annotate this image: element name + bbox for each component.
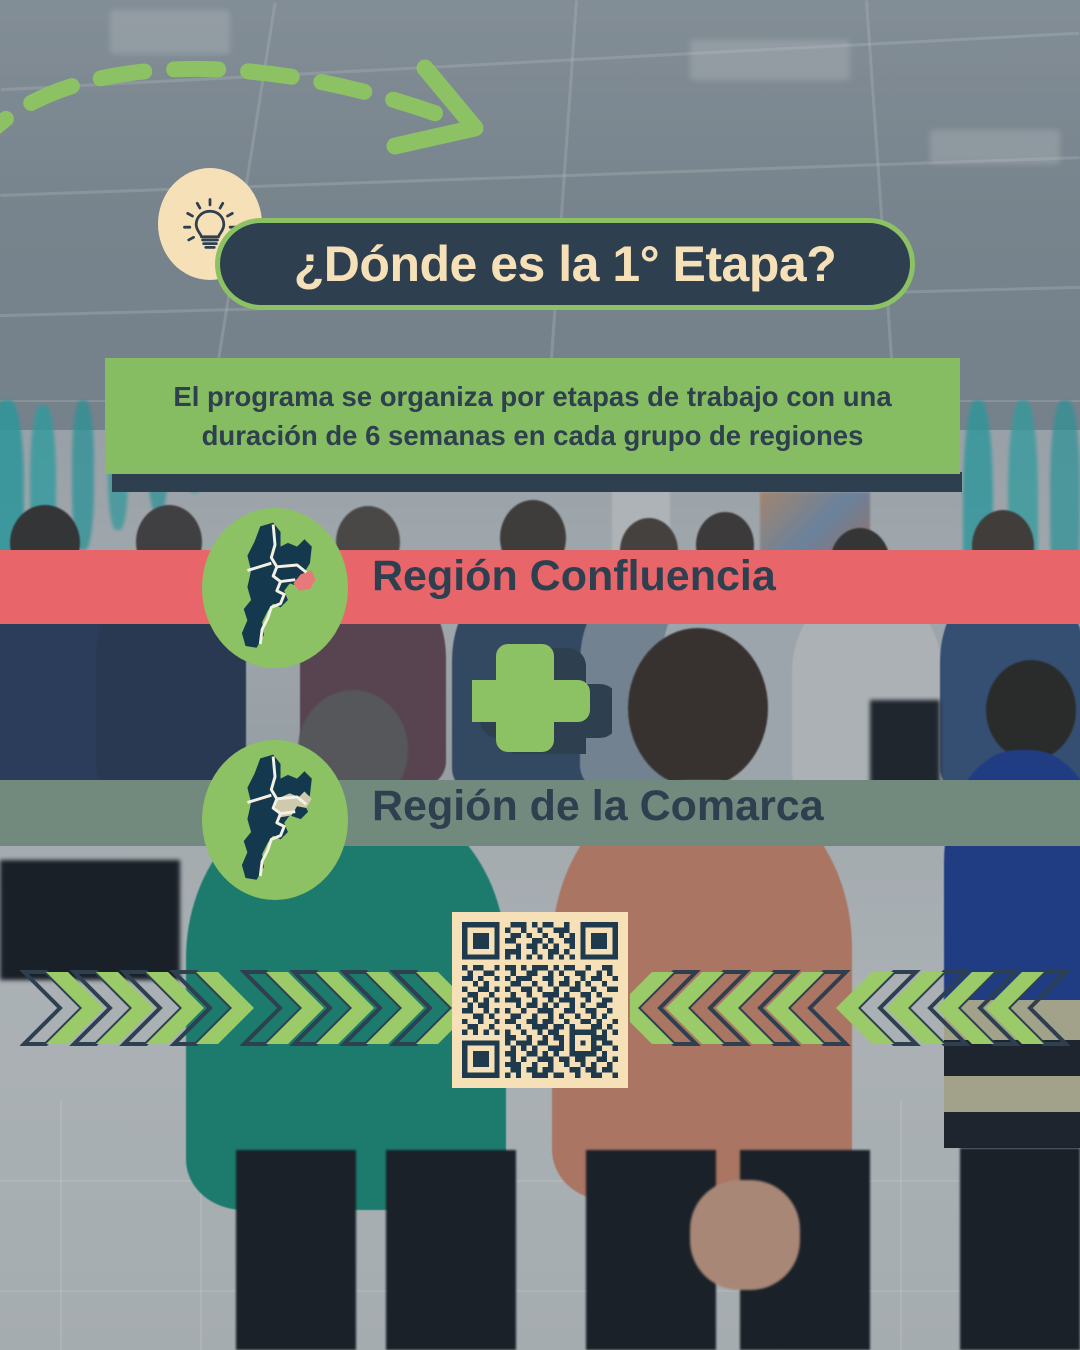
page-title: ¿Dónde es la 1° Etapa? xyxy=(215,218,915,310)
page-title-text: ¿Dónde es la 1° Etapa? xyxy=(294,235,836,293)
neuquen-map-comarca-icon xyxy=(202,740,348,900)
poster-canvas: ¿Dónde es la 1° Etapa? El programa se or… xyxy=(0,0,1080,1350)
region-label-comarca: Región de la Comarca xyxy=(372,782,824,831)
region-label-confluencia: Región Confluencia xyxy=(372,552,776,601)
description-shadow-bar xyxy=(112,472,962,492)
neuquen-map-confluencia-icon xyxy=(202,508,348,668)
chevrons-left-icon xyxy=(630,960,1070,1056)
description-panel: El programa se organiza por etapas de tr… xyxy=(105,358,960,474)
dashed-curved-arrow-icon xyxy=(0,20,570,200)
plus-connector-icon xyxy=(472,636,612,754)
qr-code[interactable] xyxy=(452,912,628,1088)
description-text: El programa se organiza por etapas de tr… xyxy=(123,377,942,455)
qr-code-image[interactable] xyxy=(462,922,618,1078)
chevrons-right-icon xyxy=(20,960,460,1056)
